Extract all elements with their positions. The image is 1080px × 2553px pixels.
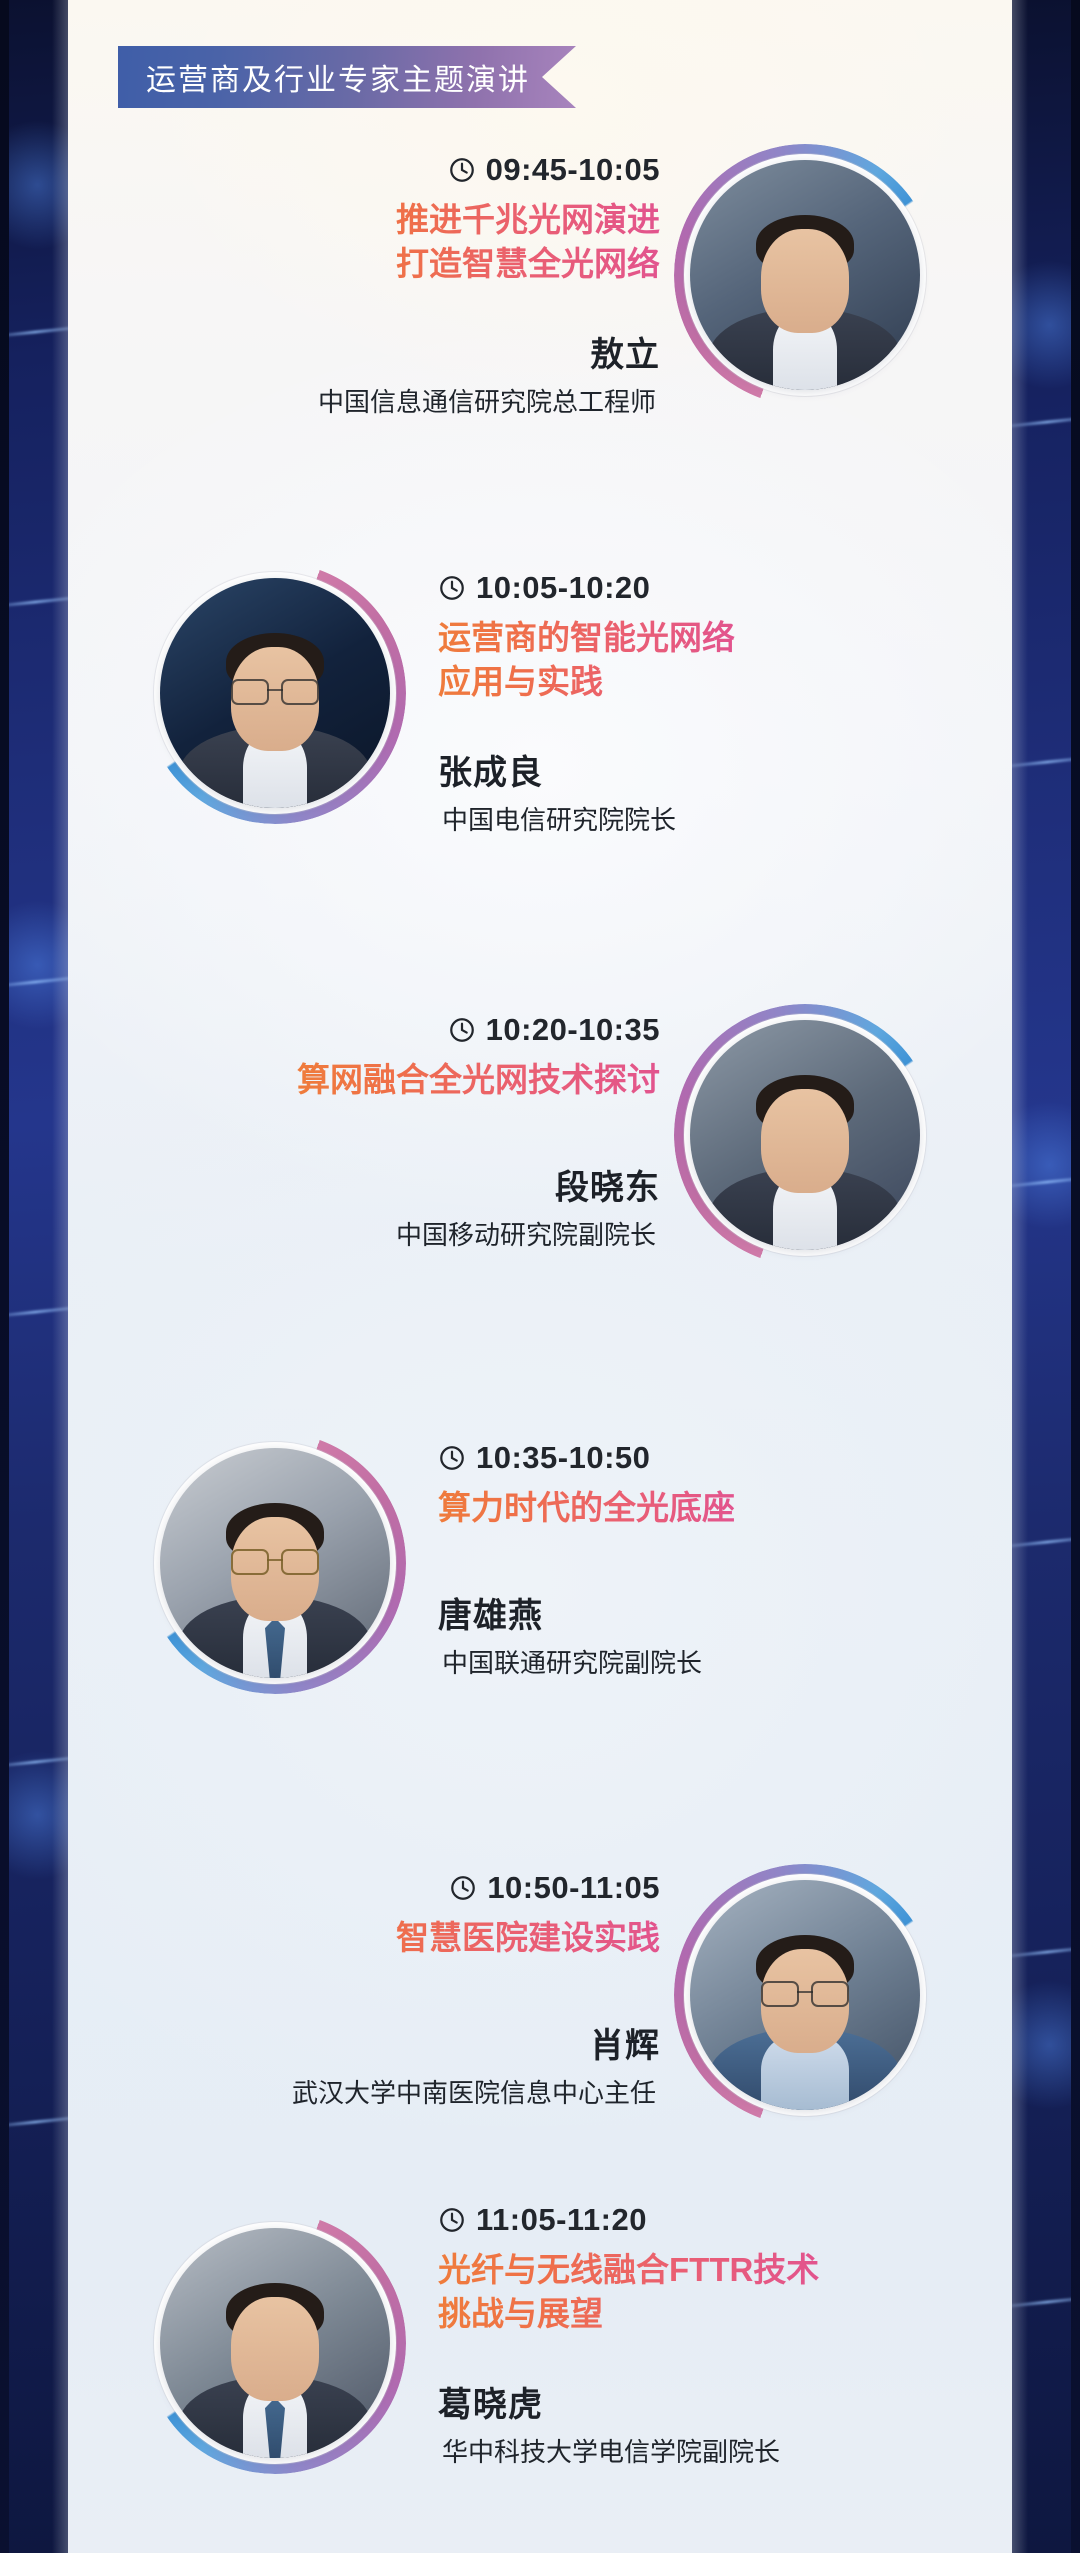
section-header-ribbon: 运营商及行业专家主题演讲 [118, 46, 576, 108]
session-time-row: 11:05-11:20 [438, 2202, 819, 2238]
session-title: 运营商的智能光网络 应用与实践 [438, 616, 735, 703]
section-header-label: 运营商及行业专家主题演讲 [146, 55, 530, 99]
avatar [160, 1448, 390, 1678]
speaker-name: 段晓东 [297, 1160, 660, 1209]
section-header: 运营商及行业专家主题演讲 [118, 46, 576, 108]
clock-icon [438, 2206, 466, 2234]
clock-icon [448, 156, 476, 184]
session-time: 10:05-10:20 [476, 570, 650, 606]
session-card[interactable]: 10:50-11:05 智慧医院建设实践 肖辉 武汉大学中南医院信息中心主任 [68, 1840, 1012, 2200]
speaker-name: 葛晓虎 [438, 2377, 819, 2426]
speaker-org: 华中科技大学电信学院副院长 [438, 2432, 784, 2471]
session-time-row: 10:20-10:35 [297, 1012, 660, 1048]
session-text: 10:20-10:35 算网融合全光网技术探讨 段晓东 中国移动研究院副院长 [297, 1012, 660, 1254]
session-title: 算网融合全光网技术探讨 [297, 1058, 660, 1102]
session-text: 11:05-11:20 光纤与无线融合FTTR技术 挑战与展望 葛晓虎 华中科技… [438, 2202, 819, 2471]
avatar [690, 160, 920, 390]
session-text: 10:50-11:05 智慧医院建设实践 肖辉 武汉大学中南医院信息中心主任 [288, 1870, 660, 2112]
avatar [160, 2228, 390, 2458]
clock-icon [449, 1874, 477, 1902]
poster-root: 运营商及行业专家主题演讲 09:45-10:05 推进千兆光网演进 打造智慧全光… [0, 0, 1080, 2553]
session-text: 10:35-10:50 算力时代的全光底座 唐雄燕 中国联通研究院副院长 [438, 1440, 735, 1682]
clock-icon [448, 1016, 476, 1044]
session-card[interactable]: 10:35-10:50 算力时代的全光底座 唐雄燕 中国联通研究院副院长 [68, 1410, 1012, 1770]
session-title: 光纤与无线融合FTTR技术 挑战与展望 [438, 2248, 819, 2335]
avatar [690, 1880, 920, 2110]
session-title: 推进千兆光网演进 打造智慧全光网络 [314, 198, 660, 285]
speaker-name: 唐雄燕 [438, 1588, 735, 1637]
session-time: 11:05-11:20 [476, 2202, 647, 2238]
session-time: 10:20-10:35 [486, 1012, 660, 1048]
session-time-row: 10:35-10:50 [438, 1440, 735, 1476]
session-card[interactable]: 11:05-11:20 光纤与无线融合FTTR技术 挑战与展望 葛晓虎 华中科技… [68, 2180, 1012, 2540]
session-card[interactable]: 10:05-10:20 运营商的智能光网络 应用与实践 张成良 中国电信研究院院… [68, 548, 1012, 908]
avatar [160, 578, 390, 808]
session-time-row: 10:50-11:05 [288, 1870, 660, 1906]
session-title: 智慧医院建设实践 [288, 1916, 660, 1960]
session-time: 10:50-11:05 [487, 1870, 660, 1906]
speaker-org: 中国联通研究院副院长 [438, 1643, 706, 1682]
session-time: 09:45-10:05 [486, 152, 660, 188]
avatar [690, 1020, 920, 1250]
left-decorative-band [0, 0, 68, 2553]
speaker-org: 中国电信研究院院长 [438, 800, 680, 839]
session-time-row: 09:45-10:05 [314, 152, 660, 188]
speaker-name: 肖辉 [288, 2018, 660, 2067]
session-text: 10:05-10:20 运营商的智能光网络 应用与实践 张成良 中国电信研究院院… [438, 570, 735, 839]
speaker-org: 中国信息通信研究院总工程师 [314, 382, 660, 421]
speaker-name: 张成良 [438, 745, 735, 794]
clock-icon [438, 574, 466, 602]
session-card[interactable]: 09:45-10:05 推进千兆光网演进 打造智慧全光网络 敖立 中国信息通信研… [68, 130, 1012, 490]
speaker-org: 武汉大学中南医院信息中心主任 [288, 2073, 660, 2112]
session-time: 10:35-10:50 [476, 1440, 650, 1476]
speaker-name: 敖立 [314, 327, 660, 376]
right-decorative-band [1012, 0, 1080, 2553]
speaker-org: 中国移动研究院副院长 [392, 1215, 660, 1254]
session-time-row: 10:05-10:20 [438, 570, 735, 606]
session-card[interactable]: 10:20-10:35 算网融合全光网技术探讨 段晓东 中国移动研究院副院长 [68, 980, 1012, 1340]
session-text: 09:45-10:05 推进千兆光网演进 打造智慧全光网络 敖立 中国信息通信研… [314, 152, 660, 421]
clock-icon [438, 1444, 466, 1472]
session-title: 算力时代的全光底座 [438, 1486, 735, 1530]
